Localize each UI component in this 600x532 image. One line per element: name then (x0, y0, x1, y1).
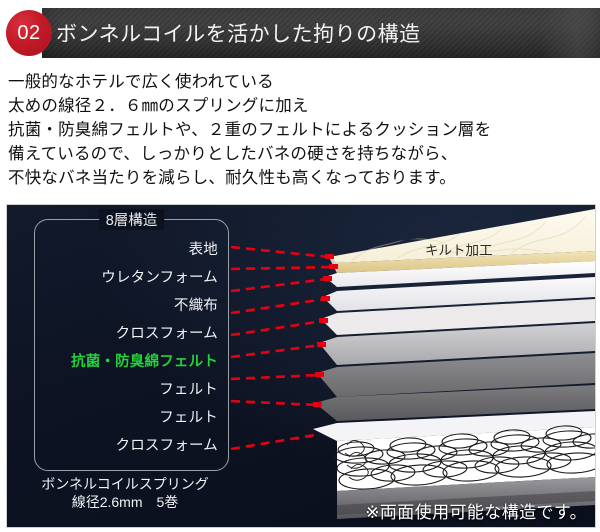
layer-label: ウレタンフォーム (35, 270, 218, 287)
product-feature-section: 02 ボンネルコイルを活かした拘りの構造 一般的なホテルで広く使われている 太め… (0, 0, 600, 532)
spring-spec-caption: ボンネルコイルスプリング 線径2.6mm 5巻 (21, 475, 229, 511)
lead-paragraph: 一般的なホテルで広く使われている 太めの線径２．６㎜のスプリングに加え 抗菌・防… (8, 72, 594, 192)
layer-box-legend: 8層構造 (99, 209, 165, 230)
construction-diagram-panel: キルト加工 8層構造 表地 ウレタンフォーム 不織布 クロスフォーム 抗菌・防臭… (6, 204, 596, 528)
layer-label: フェルト (35, 410, 218, 427)
layer-label: クロスフォーム (35, 438, 218, 455)
reversible-note: ※両面使用可能な構造です。 (365, 498, 587, 523)
lead-line: 太めの線径２．６㎜のスプリングに加え (8, 96, 594, 117)
layer-label: クロスフォーム (35, 326, 218, 343)
lead-line: 備えているので、しっかりとしたバネの硬さを持ちながら、 (8, 144, 594, 165)
section-header: 02 ボンネルコイルを活かした拘りの構造 (0, 8, 600, 58)
spring-spec-line1: ボンネルコイルスプリング (21, 475, 229, 493)
spring-spec-line2: 線径2.6mm 5巻 (21, 493, 229, 511)
lead-line: 抗菌・防臭綿フェルトや、２重のフェルトによるクッション層を (8, 120, 594, 141)
layer-label-list: 表地 ウレタンフォーム 不織布 クロスフォーム 抗菌・防臭綿フェルト フェルト … (35, 242, 218, 466)
layer-label: 表地 (35, 242, 218, 259)
lead-line: 不快なバネ当たりを減らし、耐久性も高くなっております。 (8, 168, 594, 189)
layer-label: フェルト (35, 382, 218, 399)
layer-label-highlight: 抗菌・防臭綿フェルト (35, 354, 218, 371)
quilt-process-label: キルト加工 (425, 239, 493, 259)
section-number-badge: 02 (6, 10, 52, 56)
section-title: ボンネルコイルを活かした拘りの構造 (56, 8, 421, 58)
layer-list-box: 8層構造 表地 ウレタンフォーム 不織布 クロスフォーム 抗菌・防臭綿フェルト … (34, 219, 229, 471)
layer-label: 不織布 (35, 298, 218, 315)
lead-line: 一般的なホテルで広く使われている (8, 72, 594, 93)
